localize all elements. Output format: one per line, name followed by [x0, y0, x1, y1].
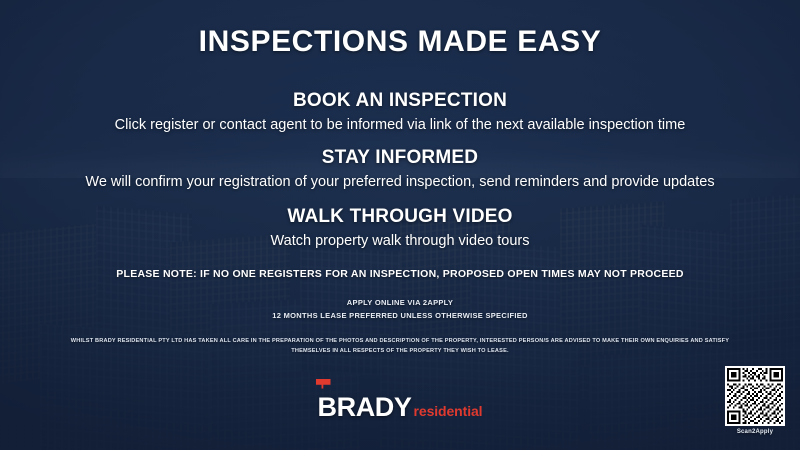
- inspection-info-slide: INSPECTIONS MADE EASY BOOK AN INSPECTION…: [0, 0, 800, 450]
- apply-info: APPLY ONLINE VIA 2APPLY 12 MONTHS LEASE …: [0, 296, 800, 322]
- apply-online-line: APPLY ONLINE VIA 2APPLY: [0, 296, 800, 309]
- section-subtext: Watch property walk through video tours: [0, 233, 800, 249]
- section-heading: BOOK AN INSPECTION: [0, 90, 800, 112]
- scan-to-apply[interactable]: Scan2Apply: [722, 366, 788, 435]
- flag-mark-icon: [316, 379, 331, 389]
- lease-term-line: 12 MONTHS LEASE PREFERRED UNLESS OTHERWI…: [0, 309, 800, 322]
- section-walk-through-video: WALK THROUGH VIDEO Watch property walk t…: [0, 206, 800, 249]
- page-title: INSPECTIONS MADE EASY: [0, 25, 800, 59]
- logo-brand-name: BRADY: [318, 392, 412, 423]
- section-stay-informed: STAY INFORMED We will confirm your regis…: [0, 147, 800, 190]
- section-heading: WALK THROUGH VIDEO: [0, 206, 800, 228]
- disclaimer-text: WHILST BRADY RESIDENTIAL PTY LTD HAS TAK…: [60, 336, 740, 356]
- section-heading: STAY INFORMED: [0, 147, 800, 169]
- section-book-an-inspection: BOOK AN INSPECTION Click register or con…: [0, 90, 800, 133]
- please-note-text: PLEASE NOTE: IF NO ONE REGISTERS FOR AN …: [0, 268, 800, 280]
- logo-tagline: residential: [414, 403, 483, 419]
- section-subtext: Click register or contact agent to be in…: [0, 117, 800, 133]
- qr-code-icon[interactable]: [725, 366, 785, 426]
- qr-caption: Scan2Apply: [722, 429, 788, 435]
- section-subtext: We will confirm your registration of you…: [0, 174, 800, 190]
- brady-residential-logo: BRADY residential: [0, 392, 800, 422]
- slide-content: INSPECTIONS MADE EASY BOOK AN INSPECTION…: [0, 0, 800, 450]
